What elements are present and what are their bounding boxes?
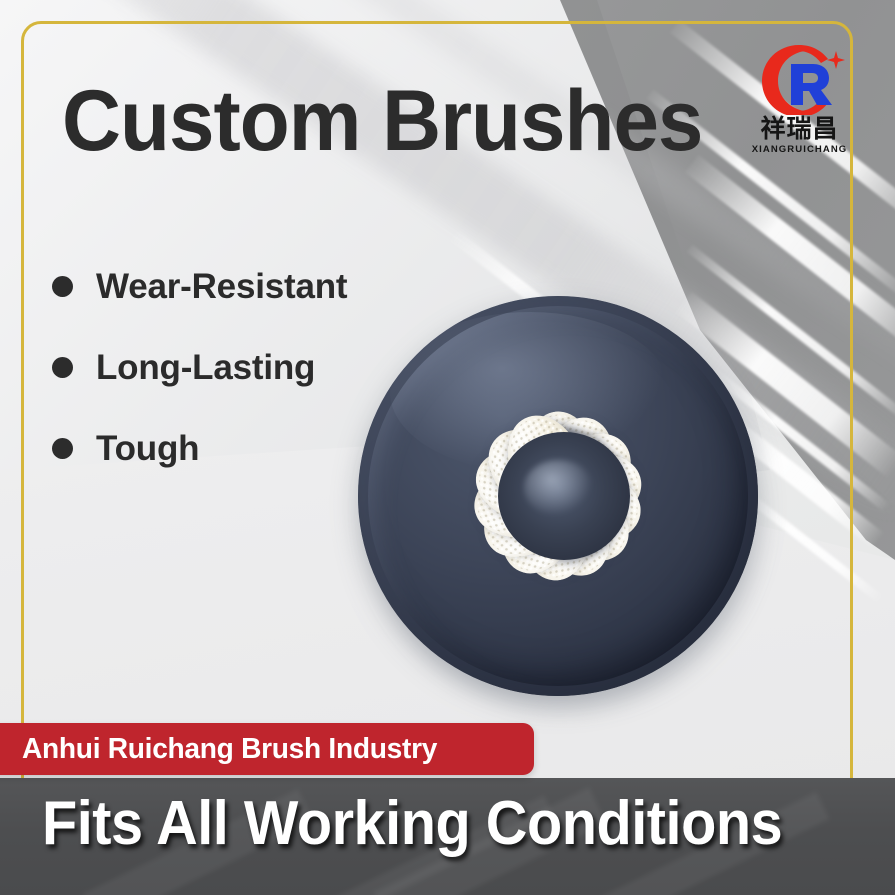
tagline-label: Fits All Working Conditions [42,788,782,859]
feature-label: Tough [96,429,199,469]
product-advertisement-poster: Custom Brushes 祥瑞昌 XIANGRUICHANG Wear-Re… [0,0,895,895]
logo-mark-icon [737,43,862,115]
brand-logo: 祥瑞昌 XIANGRUICHANG [737,43,862,163]
feature-item: Tough [52,408,347,489]
company-name-label: Anhui Ruichang Brush Industry [22,733,437,766]
bullet-dot-icon [52,438,73,459]
feature-item: Long-Lasting [52,327,347,408]
tagline-bar: Fits All Working Conditions [0,778,895,895]
logo-chinese-name: 祥瑞昌 [737,116,862,141]
letter-r-icon [791,64,832,105]
bullet-dot-icon [52,276,73,297]
feature-item: Wear-Resistant [52,246,347,327]
feature-label: Long-Lasting [96,348,315,388]
company-name-badge: Anhui Ruichang Brush Industry [0,723,534,775]
sparkle-star-icon [827,51,845,69]
bullet-dot-icon [52,357,73,378]
logo-pinyin: XIANGRUICHANG [737,144,862,155]
feature-list: Wear-Resistant Long-Lasting Tough [52,246,347,489]
feature-label: Wear-Resistant [96,267,347,307]
page-title: Custom Brushes [62,72,702,171]
